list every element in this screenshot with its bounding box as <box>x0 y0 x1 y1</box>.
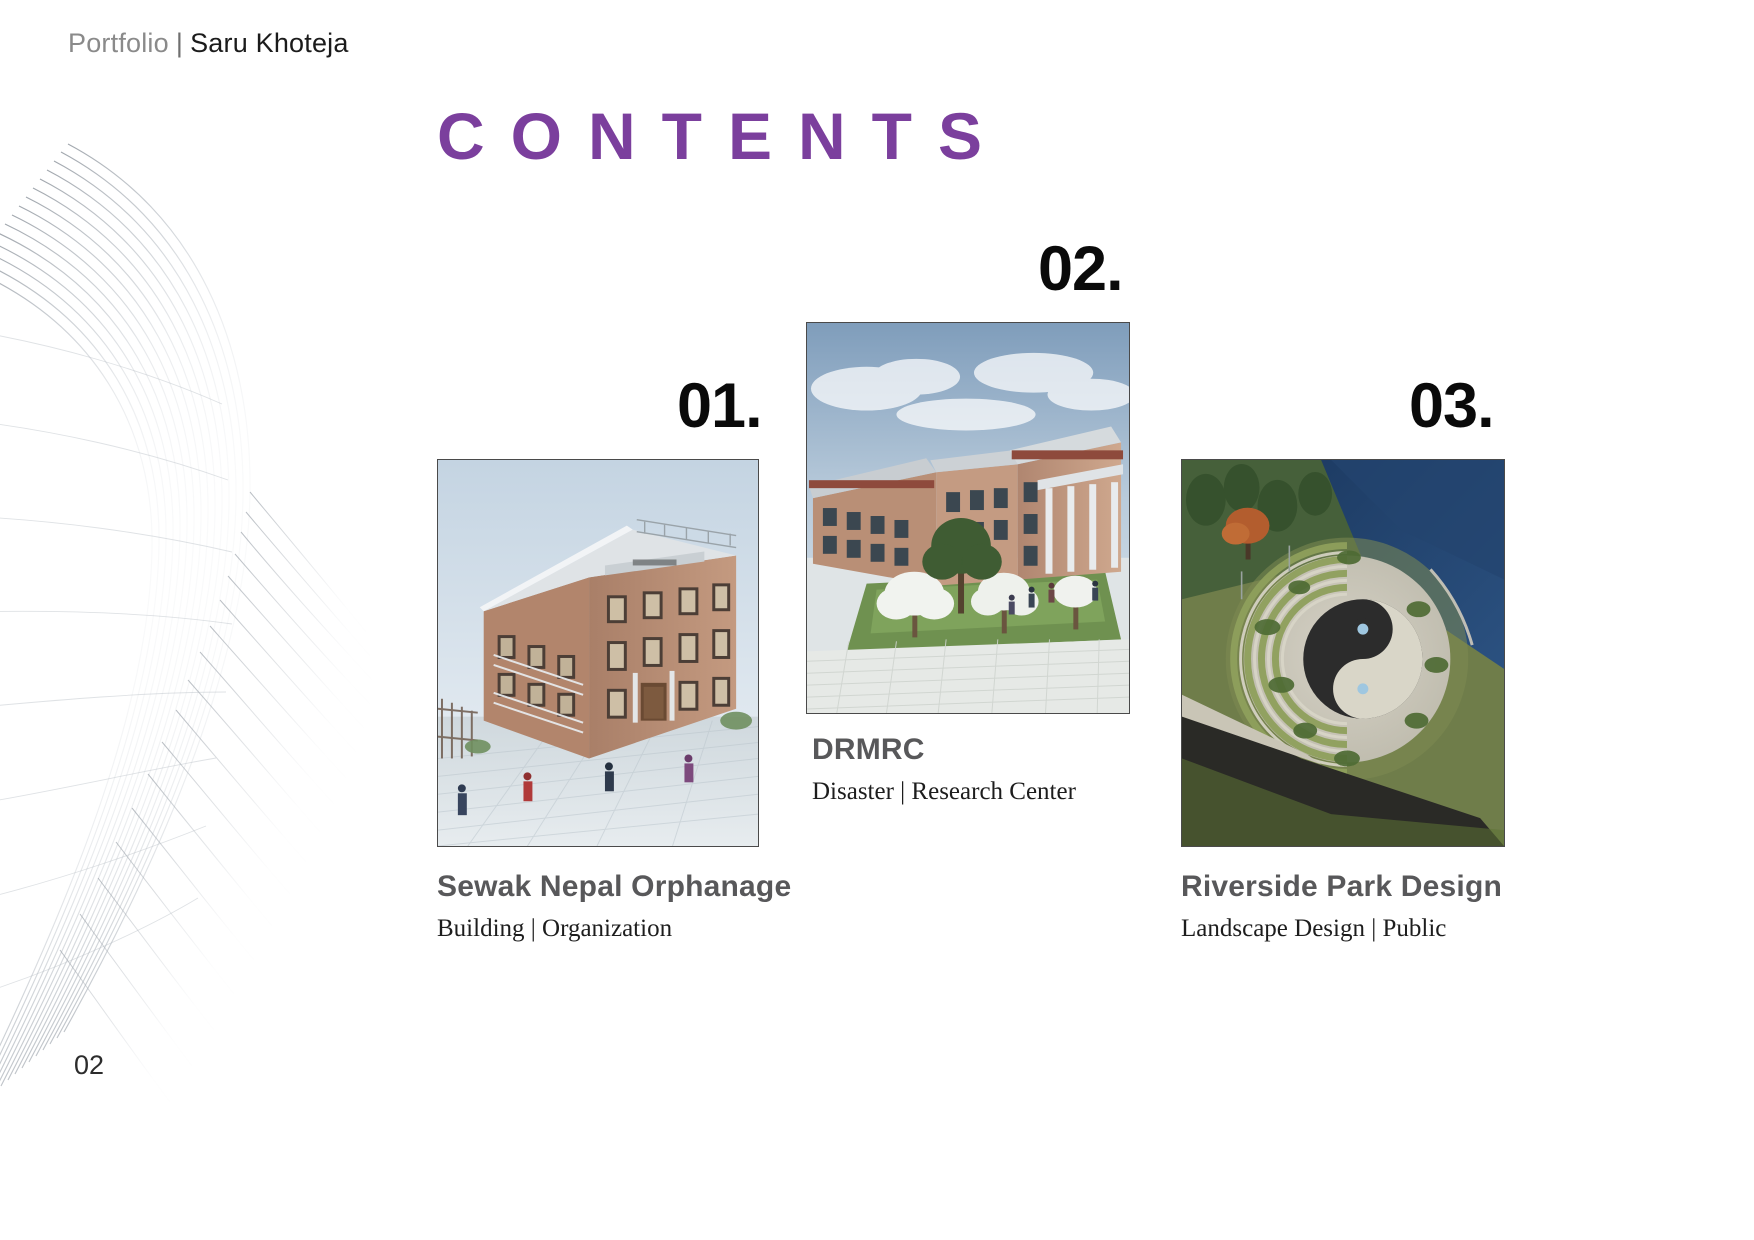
page-header: Portfolio|Saru Khoteja <box>68 28 349 59</box>
header-author-name: Saru Khoteja <box>190 28 349 58</box>
parametric-line-art-decoration <box>0 120 480 1120</box>
project-card-01[interactable]: 01. <box>437 375 817 955</box>
project-title-03: Riverside Park Design <box>1181 870 1502 904</box>
project-number-02: 02. <box>1038 238 1123 301</box>
project-number-03: 03. <box>1409 375 1494 438</box>
project-thumbnail-03[interactable] <box>1181 459 1505 847</box>
page-number: 02 <box>74 1050 104 1081</box>
contents-page: Portfolio|Saru Khoteja CONTENTS 01. <box>0 0 1754 1240</box>
project-number-01: 01. <box>677 375 762 438</box>
project-subtitle-02: Disaster | Research Center <box>812 778 1076 806</box>
header-separator: | <box>176 28 183 58</box>
project-title-02: DRMRC <box>812 733 925 767</box>
project-subtitle-03: Landscape Design | Public <box>1181 915 1446 943</box>
project-thumbnail-02[interactable] <box>806 322 1130 714</box>
project-card-03[interactable]: 03. <box>1181 375 1561 955</box>
project-thumbnail-01[interactable] <box>437 459 759 847</box>
project-card-02[interactable]: 02. <box>806 238 1186 818</box>
project-subtitle-01: Building | Organization <box>437 915 672 943</box>
project-title-01: Sewak Nepal Orphanage <box>437 870 791 904</box>
page-title: CONTENTS <box>437 98 1008 174</box>
header-portfolio-label: Portfolio <box>68 28 169 58</box>
